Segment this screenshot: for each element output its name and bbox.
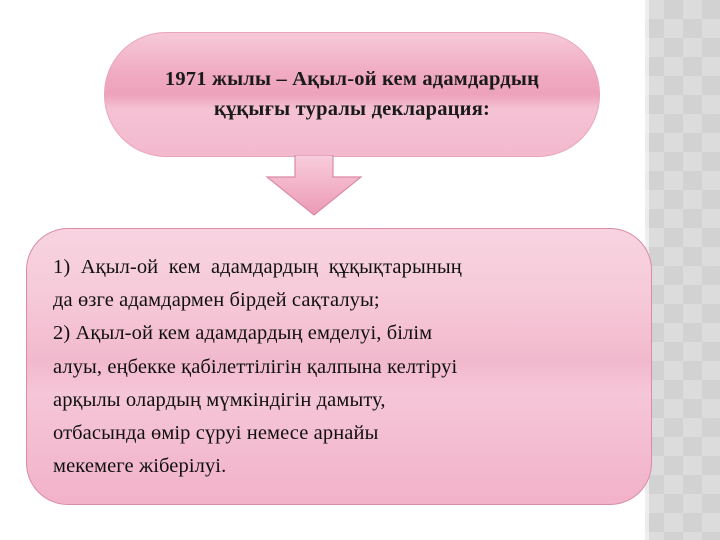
declaration-points-box: 1) Ақыл-ой кем адамдардың құқықтарының д…	[26, 228, 652, 505]
body-line-7: мекемеге жіберілуі.	[53, 450, 625, 483]
down-arrow-icon	[265, 155, 363, 217]
body-line-3: 2) Ақыл-ой кем адамдардың емделуі, білім	[53, 317, 625, 350]
declaration-title-text: 1971 жылы – Ақыл-ой кем адамдардың құқығ…	[135, 65, 569, 123]
body-line-1: 1) Ақыл-ой кем адамдардың құқықтарының	[53, 251, 625, 284]
title-line-1: 1971 жылы – Ақыл-ой кем адамдардың	[165, 65, 539, 94]
body-line-2: да өзге адамдармен бірдей сақталуы;	[53, 284, 625, 317]
body-line-5: арқылы олардың мүмкіндігін дамыту,	[53, 384, 625, 417]
slide-canvas: 1971 жылы – Ақыл-ой кем адамдардың құқығ…	[0, 0, 720, 540]
diamond-checker-pattern	[645, 0, 720, 540]
declaration-title-banner: 1971 жылы – Ақыл-ой кем адамдардың құқығ…	[104, 32, 600, 157]
body-line-4: алуы, еңбекке қабілеттілігін қалпына кел…	[53, 351, 625, 384]
body-line-1-text: 1) Ақыл-ой кем адамдардың құқықтарының	[53, 251, 462, 284]
body-line-6: отбасында өмір сүруі немесе арнайы	[53, 417, 625, 450]
title-line-2: құқығы туралы декларация:	[165, 95, 539, 124]
